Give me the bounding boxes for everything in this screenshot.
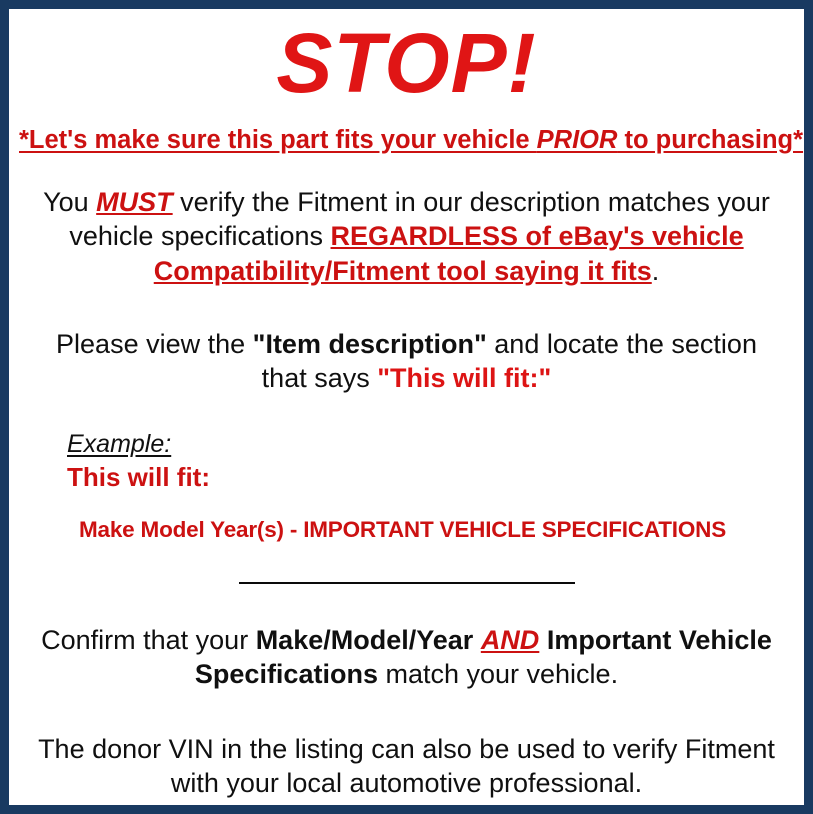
item-description-emphasis: "Item description" — [253, 329, 487, 359]
must-emphasis: MUST — [96, 187, 173, 217]
confirm-par-seg1: Confirm that your — [41, 625, 256, 655]
example-label: Example: — [67, 430, 171, 459]
example-this-will-fit-line: This will fit: — [67, 459, 794, 493]
stop-heading: STOP! — [19, 9, 794, 104]
subtitle-text-part1: *Let's make sure this part fits your veh… — [19, 126, 537, 154]
fitment-notice-card: STOP! *Let's make sure this part fits yo… — [0, 0, 813, 814]
and-emphasis: AND — [481, 625, 540, 655]
subtitle-text-part2: to purchasing* — [617, 126, 803, 154]
example-specification-line: Make Model Year(s) - IMPORTANT VEHICLE S… — [67, 493, 794, 543]
confirm-par-seg4: match your vehicle. — [378, 659, 618, 689]
confirm-par-seg3 — [539, 625, 547, 655]
divider-wrapper — [19, 543, 794, 593]
item-description-paragraph: Please view the "Item description" and l… — [19, 289, 794, 396]
thank-you-line: Thank you for confirming Fitment! — [19, 801, 794, 814]
confirm-paragraph: Confirm that your Make/Model/Year AND Im… — [19, 593, 794, 692]
must-verify-paragraph: You MUST verify the Fitment in our descr… — [19, 155, 794, 289]
make-model-year-emphasis: Make/Model/Year — [256, 625, 474, 655]
confirm-par-seg2 — [473, 625, 481, 655]
horizontal-divider — [239, 582, 575, 584]
must-par-seg1: You — [43, 187, 96, 217]
must-par-seg3: . — [652, 256, 660, 286]
donor-vin-paragraph: The donor VIN in the listing can also be… — [19, 692, 794, 801]
subtitle-warning-line: *Let's make sure this part fits your veh… — [19, 104, 794, 155]
itemdesc-par-seg1: Please view the — [56, 329, 253, 359]
example-label-row: Example: — [67, 430, 794, 459]
this-will-fit-emphasis: "This will fit:" — [377, 363, 551, 393]
example-block: Example: This will fit: Make Model Year(… — [19, 396, 794, 543]
subtitle-emphasis-prior: PRIOR — [537, 126, 618, 154]
